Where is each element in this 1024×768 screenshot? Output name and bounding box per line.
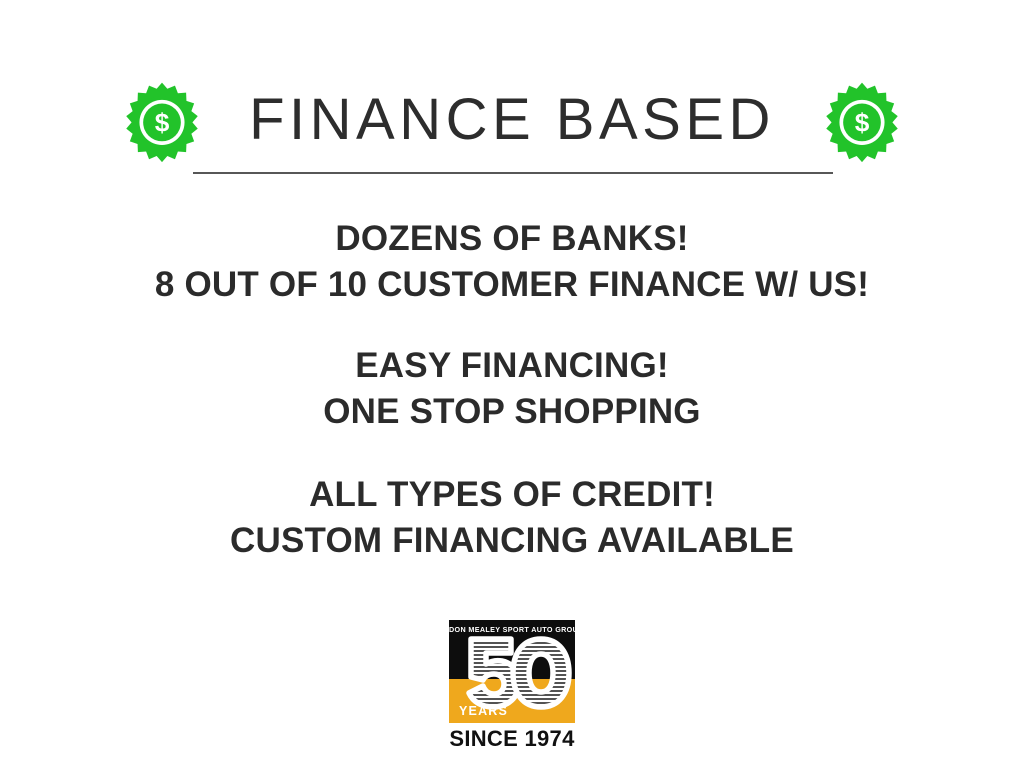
dealer-anniversary-logo: DON MEALEY SPORT AUTO GROUP <box>449 620 575 751</box>
logo-mark: DON MEALEY SPORT AUTO GROUP <box>449 620 575 723</box>
logo-group-name: DON MEALEY SPORT AUTO GROUP <box>449 626 575 633</box>
title-divider <box>193 172 833 174</box>
copy-block: DOZENS OF BANKS! 8 OUT OF 10 CUSTOMER FI… <box>0 216 1024 307</box>
copy-subline: ONE STOP SHOPPING <box>0 389 1024 435</box>
header-row: $ FINANCE BASED $ <box>0 76 1024 168</box>
logo-years-label: YEARS <box>459 705 508 718</box>
logo-since-text: SINCE 1974 <box>449 727 575 751</box>
finance-based-slide: $ FINANCE BASED $ DOZENS OF BANKS <box>0 0 1024 768</box>
copy-block: ALL TYPES OF CREDIT! CUSTOM FINANCING AV… <box>0 472 1024 563</box>
copy-subline: 8 OUT OF 10 CUSTOMER FINANCE W/ US! <box>0 262 1024 308</box>
svg-text:$: $ <box>155 107 170 137</box>
copy-headline: ALL TYPES OF CREDIT! <box>0 472 1024 518</box>
slide-header: $ FINANCE BASED $ <box>0 76 1024 186</box>
body-copy: DOZENS OF BANKS! 8 OUT OF 10 CUSTOMER FI… <box>0 216 1024 563</box>
page-title: FINANCE BASED <box>249 91 775 153</box>
money-gear-icon: $ <box>821 81 903 163</box>
money-gear-icon: $ <box>121 81 203 163</box>
copy-headline: DOZENS OF BANKS! <box>0 216 1024 262</box>
copy-headline: EASY FINANCING! <box>0 343 1024 389</box>
svg-text:$: $ <box>855 107 870 137</box>
copy-subline: CUSTOM FINANCING AVAILABLE <box>0 518 1024 564</box>
copy-block: EASY FINANCING! ONE STOP SHOPPING <box>0 343 1024 434</box>
